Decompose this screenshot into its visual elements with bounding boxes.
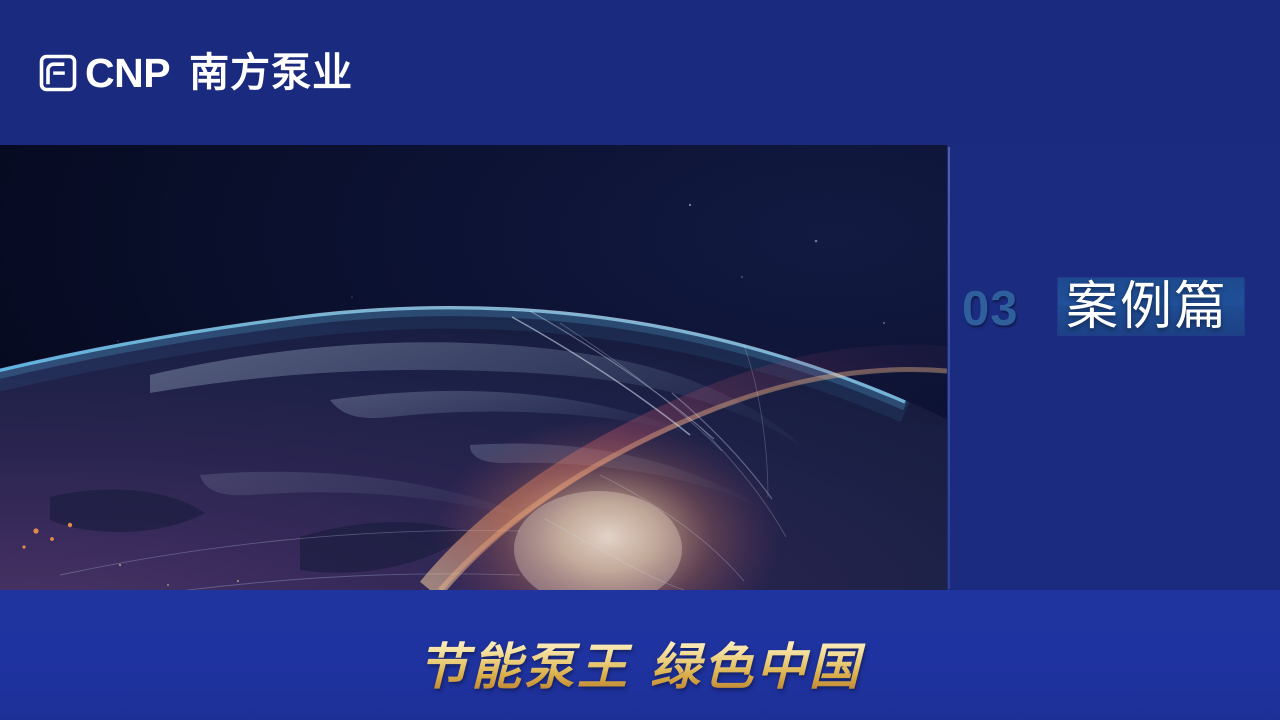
cnp-emblem-icon — [38, 53, 78, 93]
header-bar: CNP 南方泵业 — [0, 0, 1280, 145]
section-panel: 03 案例篇 — [948, 145, 1280, 590]
slogan-part-one: 节能泵王 — [418, 638, 630, 696]
logo-chinese-text: 南方泵业 — [189, 53, 353, 93]
section-title: 案例篇 — [1066, 272, 1228, 342]
logo-latin-text: CNP — [85, 53, 170, 94]
presentation-slide: CNP 南方泵业 — [0, 0, 1280, 720]
company-slogan: 节能泵王绿色中国 — [0, 636, 1280, 698]
company-logo[interactable]: CNP 南方泵业 — [38, 47, 353, 99]
section-number: 03 — [962, 285, 1019, 334]
earth-from-space-photo — [0, 145, 947, 590]
slogan-part-two: 绿色中国 — [650, 638, 862, 696]
section-title-group: 案例篇 — [1058, 278, 1244, 335]
